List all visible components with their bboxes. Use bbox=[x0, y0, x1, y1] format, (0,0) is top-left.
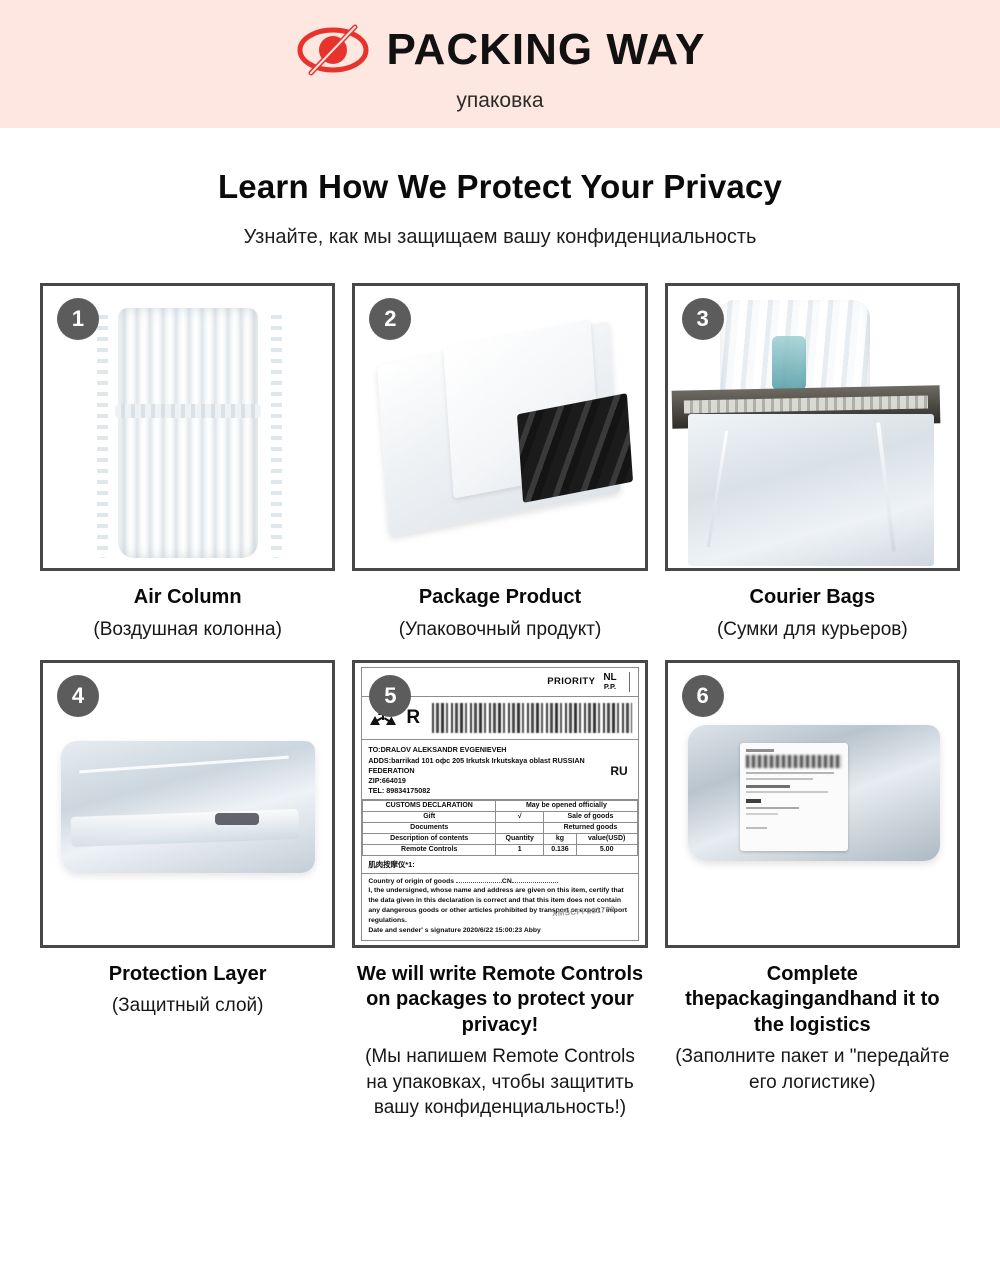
gift-label: Gift bbox=[363, 811, 496, 822]
signature-line: Date and sender' s signature 2020/6/22 1… bbox=[368, 926, 631, 936]
eye-slash-icon bbox=[294, 22, 372, 78]
step-caption-3: Courier Bags (Сумки для курьеров) bbox=[665, 571, 960, 642]
item-value: 5.00 bbox=[576, 844, 637, 855]
label-line-9 bbox=[746, 827, 767, 829]
bag-seal-mark bbox=[215, 813, 259, 825]
item-kg: 0.136 bbox=[544, 844, 576, 855]
air-column-edge-left bbox=[97, 308, 108, 558]
barcode bbox=[432, 703, 632, 733]
brand-title: PACKING WAY bbox=[386, 28, 705, 72]
customs-gift-row: Gift √ Sale of goods bbox=[363, 811, 637, 822]
label-line-2 bbox=[746, 772, 834, 774]
step-title-en-5: We will write Remote Controls on package… bbox=[356, 962, 643, 1039]
customs-documents-row: Documents Returned goods bbox=[363, 822, 637, 833]
step-badge-5: 5 bbox=[369, 675, 411, 717]
origin-dotline bbox=[456, 882, 502, 883]
label-address-row: TO:DRALOV ALEKSANDR EVGENIEVEH ADDS:barr… bbox=[362, 740, 637, 799]
col-description: Description of contents bbox=[363, 833, 496, 844]
step-badge-3: 3 bbox=[682, 298, 724, 340]
destination-code: RU bbox=[610, 764, 631, 778]
documents-label: Documents bbox=[363, 822, 496, 833]
step-caption-6: Complete thepackagingandhand it to the l… bbox=[665, 948, 960, 1095]
step-title-ru-5: (Мы напишем Remote Controls на упаковках… bbox=[356, 1044, 643, 1119]
step-image-3: 3 bbox=[665, 283, 960, 571]
step-image-2: 2 bbox=[352, 283, 647, 571]
origin-line: Country of origin of goods CN bbox=[368, 877, 631, 887]
item-quantity: 1 bbox=[496, 844, 544, 855]
address-block: TO:DRALOV ALEKSANDR EVGENIEVEH ADDS:barr… bbox=[368, 745, 606, 796]
step-image-1: 1 bbox=[40, 283, 335, 571]
postage-paid: P.P. bbox=[603, 683, 616, 691]
brand-subtitle: упаковка bbox=[456, 89, 543, 113]
step-card-4: 4 Protection Layer (Защитный слой) bbox=[40, 660, 335, 1120]
customs-table: CUSTOMS DECLARATION May be opened offici… bbox=[362, 800, 637, 856]
label-line-6 bbox=[746, 799, 761, 803]
step-card-3: 3 Courier Bags (Сумки для курьеров) bbox=[665, 283, 960, 642]
documents-check-cell bbox=[496, 822, 544, 833]
attached-shipping-label bbox=[740, 743, 848, 851]
step-title-en-4: Protection Layer bbox=[44, 962, 331, 988]
step-title-en-1: Air Column bbox=[44, 585, 331, 611]
recycle-mark-letter: R bbox=[406, 707, 420, 729]
step-title-ru-2: (Упаковочный продукт) bbox=[356, 617, 643, 642]
page-title: Learn How We Protect Your Privacy bbox=[0, 168, 1000, 206]
step-title-ru-6: (Заполните пакет и "передайте его логист… bbox=[669, 1044, 956, 1094]
gift-checkmark: √ bbox=[496, 811, 544, 822]
step-badge-6: 6 bbox=[682, 675, 724, 717]
step-card-1: 1 Air Column (Воздушная колонна) bbox=[40, 283, 335, 642]
may-be-opened: May be opened officially bbox=[496, 800, 638, 811]
product-inside bbox=[772, 336, 806, 390]
label-divider-tick bbox=[629, 672, 630, 692]
zip-code: ZIP:664019 bbox=[368, 776, 606, 786]
air-column-edge-right bbox=[271, 308, 282, 558]
label-line-3 bbox=[746, 778, 813, 780]
col-value: value(USD) bbox=[576, 833, 637, 844]
step-image-5: 5 PRIORITY NL P.P. R bbox=[352, 660, 647, 948]
step-title-en-3: Courier Bags bbox=[669, 585, 956, 611]
step-title-ru-4: (Защитный слой) bbox=[44, 993, 331, 1018]
label-line-5 bbox=[746, 791, 829, 793]
page-subtitle: Узнайте, как мы защищаем вашу конфиденци… bbox=[0, 226, 1000, 249]
steps-grid-row-1: 1 Air Column (Воздушная колонна) 2 Packa… bbox=[0, 283, 1000, 642]
label-line-8 bbox=[746, 813, 779, 815]
step-title-en-2: Package Product bbox=[356, 585, 643, 611]
customs-columns-row: Description of contents Quantity kg valu… bbox=[363, 833, 637, 844]
label-line-7 bbox=[746, 807, 800, 809]
air-column-body bbox=[118, 308, 258, 558]
origin-label: Country of origin of goods bbox=[368, 878, 454, 885]
step-card-2: 2 Package Product (Упаковочный продукт) bbox=[352, 283, 647, 642]
brand-row: PACKING WAY bbox=[294, 22, 705, 78]
step-badge-4: 4 bbox=[57, 675, 99, 717]
item-description: Remote Controls bbox=[363, 844, 496, 855]
steps-grid-row-2: 4 Protection Layer (Защитный слой) 5 PRI… bbox=[0, 660, 1000, 1120]
protection-bag bbox=[61, 741, 315, 873]
step-image-4: 4 bbox=[40, 660, 335, 948]
telephone: TEL: 89834175082 bbox=[368, 786, 606, 796]
customs-header-row: CUSTOMS DECLARATION May be opened offici… bbox=[363, 800, 637, 811]
recipient-name: TO:DRALOV ALEKSANDR EVGENIEVEH bbox=[368, 745, 606, 755]
step-caption-1: Air Column (Воздушная колонна) bbox=[40, 571, 335, 642]
customs-heading: CUSTOMS DECLARATION bbox=[363, 800, 496, 811]
origin-value: CN bbox=[502, 878, 512, 885]
priority-text: PRIORITY bbox=[547, 676, 595, 687]
step-card-5: 5 PRIORITY NL P.P. R bbox=[352, 660, 647, 1120]
label-line-1 bbox=[746, 749, 775, 752]
col-quantity: Quantity bbox=[496, 833, 544, 844]
headings-block: Learn How We Protect Your Privacy Узнайт… bbox=[0, 168, 1000, 249]
label-line-4 bbox=[746, 785, 790, 788]
step-title-en-6: Complete thepackagingandhand it to the l… bbox=[669, 962, 956, 1039]
cn-item-line: 肌肉按摩仪*1: bbox=[362, 856, 637, 874]
step-caption-5: We will write Remote Controls on package… bbox=[352, 948, 647, 1120]
courier-bag-body bbox=[688, 414, 934, 566]
address-line: ADDS:barrikad 101 офc 205 Irkutsk Irkuts… bbox=[368, 756, 606, 776]
step-title-ru-3: (Сумки для курьеров) bbox=[669, 617, 956, 642]
country-code-block: NL P.P. bbox=[603, 673, 616, 691]
returned-goods-label: Returned goods bbox=[544, 822, 637, 833]
sale-of-goods-label: Sale of goods bbox=[544, 811, 637, 822]
step-card-6: 6 Complete thepackagingandhand it bbox=[665, 660, 960, 1120]
label-barcode-blur bbox=[746, 755, 842, 768]
origin-dotline-2 bbox=[512, 882, 558, 883]
declaration-block: Country of origin of goods CN I, the und… bbox=[362, 874, 637, 940]
step-caption-2: Package Product (Упаковочный продукт) bbox=[352, 571, 647, 642]
step-caption-4: Protection Layer (Защитный слой) bbox=[40, 948, 335, 1019]
step-title-ru-1: (Воздушная колонна) bbox=[44, 617, 331, 642]
customs-item-row: Remote Controls 1 0.136 5.00 bbox=[363, 844, 637, 855]
col-kg: kg bbox=[544, 833, 576, 844]
page-header: PACKING WAY упаковка bbox=[0, 0, 1000, 128]
step-image-6: 6 bbox=[665, 660, 960, 948]
step-badge-1: 1 bbox=[57, 298, 99, 340]
